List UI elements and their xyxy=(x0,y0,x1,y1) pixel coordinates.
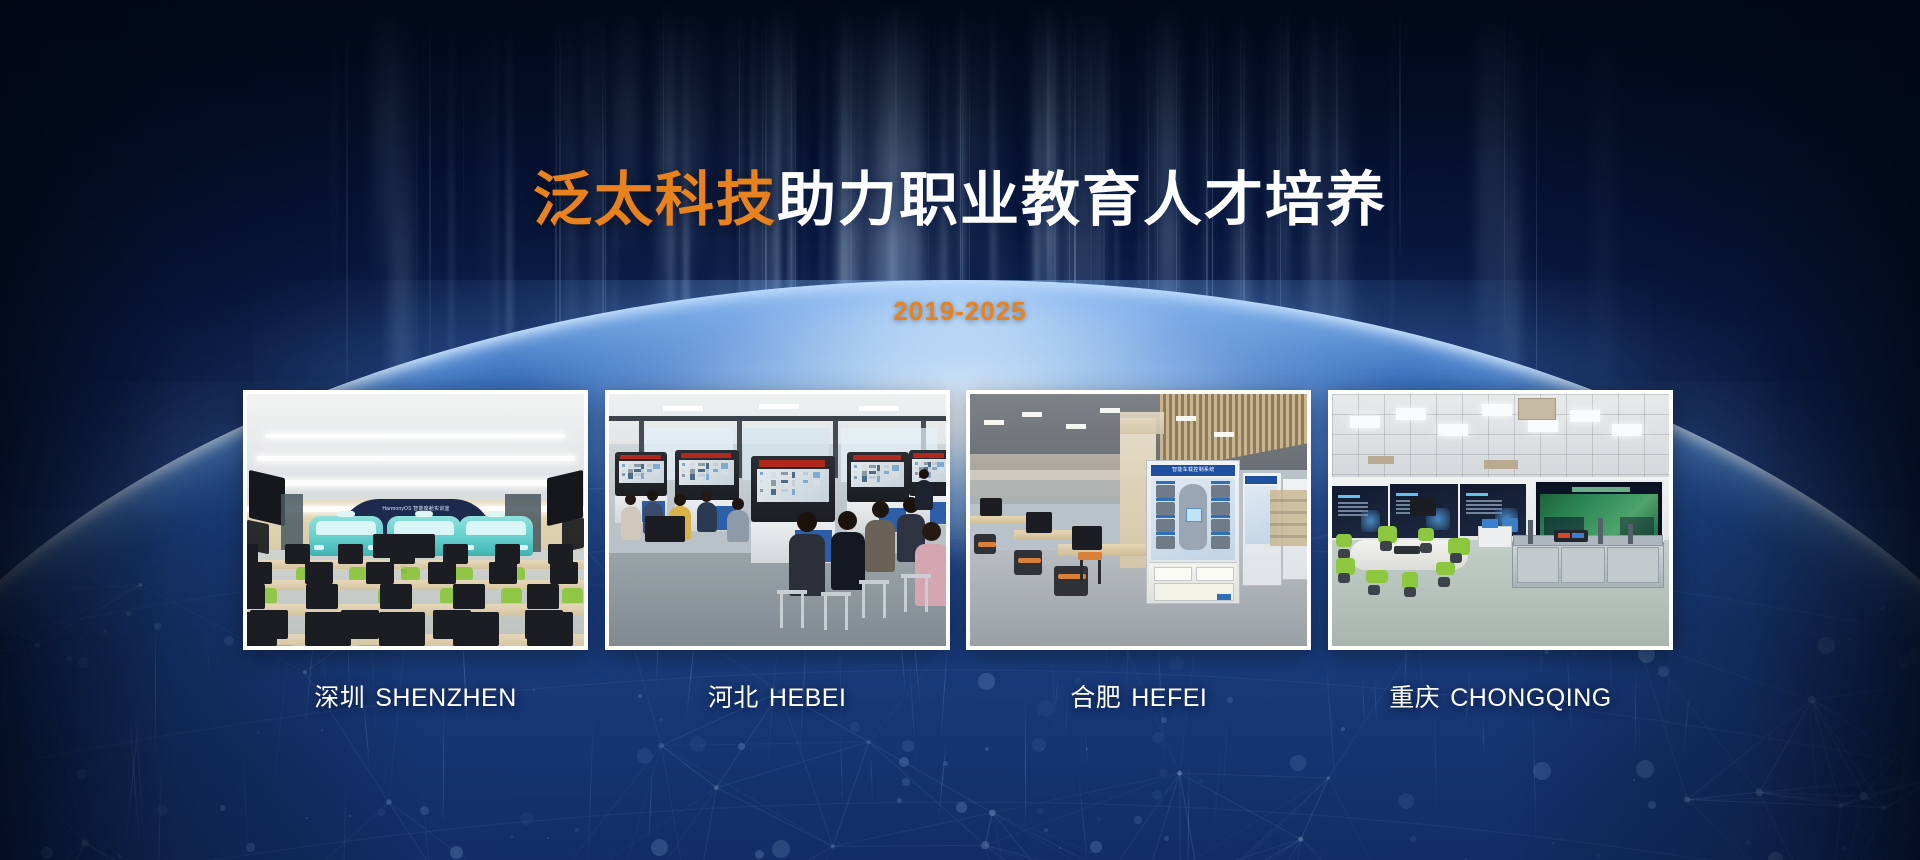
caption-cn: 重庆 xyxy=(1389,684,1440,712)
gallery-captions: 深圳SHENZHEN 河北HEBEI 合肥HEFEI 重庆CHONGQING xyxy=(243,678,1673,722)
banner-title-brand: 泛太科技 xyxy=(533,167,777,233)
caption-shenzhen: 深圳SHENZHEN xyxy=(243,678,588,722)
gallery-card[interactable]: HarmonyOS 智能座舱实训室 xyxy=(243,390,588,650)
caption-chongqing: 重庆CHONGQING xyxy=(1328,678,1673,722)
caption-en: HEBEI xyxy=(769,684,847,712)
photo-chongqing xyxy=(1332,394,1669,646)
gallery-card[interactable] xyxy=(605,390,950,650)
photo-gallery: HarmonyOS 智能座舱实训室 智能车载控制系统 xyxy=(243,390,1673,650)
caption-cn: 合肥 xyxy=(1070,684,1121,712)
caption-en: CHONGQING xyxy=(1450,684,1611,712)
caption-cn: 河北 xyxy=(708,684,759,712)
caption-hefei: 合肥HEFEI xyxy=(966,678,1311,722)
banner-title-rest: 助力职业教育人才培养 xyxy=(777,167,1387,233)
photo-shenzhen: HarmonyOS 智能座舱实训室 xyxy=(247,394,584,646)
photo-hebei xyxy=(609,394,946,646)
banner-stage: 泛太科技助力职业教育人才培养 2019-2025 HarmonyOS 智能座舱实… xyxy=(0,0,1920,860)
gallery-card[interactable] xyxy=(1328,390,1673,650)
caption-en: HEFEI xyxy=(1131,684,1207,712)
photo-hefei: 智能车载控制系统 xyxy=(970,394,1307,646)
banner-subtitle-years: 2019-2025 xyxy=(0,296,1920,327)
gallery-card[interactable]: 智能车载控制系统 xyxy=(966,390,1311,650)
caption-en: SHENZHEN xyxy=(375,684,517,712)
caption-hebei: 河北HEBEI xyxy=(605,678,950,722)
banner-title: 泛太科技助力职业教育人才培养 xyxy=(0,168,1920,233)
caption-cn: 深圳 xyxy=(314,684,365,712)
